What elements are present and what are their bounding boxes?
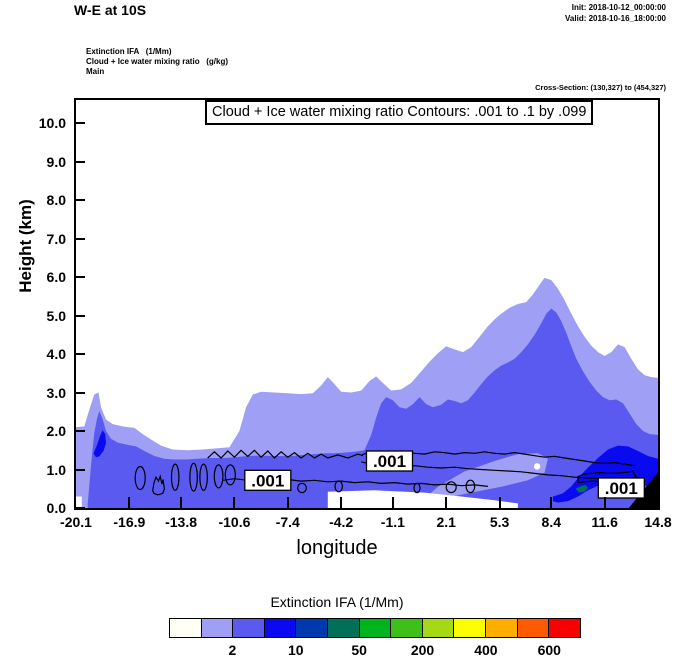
- x-tick-label: -13.8: [153, 514, 209, 530]
- colorbar-cell: [328, 619, 360, 637]
- x-tick-label: -10.6: [206, 514, 262, 530]
- colorbar-tick-label: 600: [529, 641, 569, 659]
- y-tick-mark: [74, 315, 85, 317]
- x-tick-mark: [604, 497, 606, 508]
- colorbar-tick-label: 400: [466, 641, 506, 659]
- y-tick-label: 0.0: [18, 501, 66, 515]
- x-tick-mark: [233, 497, 235, 508]
- colorbar-cell: [391, 619, 423, 637]
- y-tick-mark: [74, 161, 85, 163]
- y-tick-label: 2.0: [18, 424, 66, 438]
- x-tick-mark: [287, 497, 289, 508]
- x-tick-label: 8.4: [523, 514, 579, 530]
- x-tick-mark: [128, 497, 130, 508]
- init-timestamp: Init: 2018-10-12_00:00:00: [565, 2, 666, 13]
- colorbar-cell: [423, 619, 455, 637]
- cross-section-figure: W-E at 10S Init: 2018-10-12_00:00:00 Val…: [0, 0, 674, 667]
- y-tick-mark: [74, 430, 85, 432]
- y-tick-mark: [74, 276, 85, 278]
- y-tick-mark: [74, 122, 85, 124]
- x-tick-mark: [340, 497, 342, 508]
- x-tick-label: -1.1: [365, 514, 421, 530]
- y-axis-title: Height (km): [16, 176, 36, 316]
- x-tick-label: -4.2: [313, 514, 369, 530]
- field-hole: [534, 463, 540, 469]
- x-axis-title: longitude: [0, 537, 674, 560]
- x-tick-label: 11.6: [577, 514, 633, 530]
- y-tick-mark: [74, 507, 85, 509]
- colorbar-cell: [549, 619, 580, 637]
- x-tick-label: -7.4: [260, 514, 316, 530]
- colorbar-cell: [518, 619, 550, 637]
- colorbar-cell: [170, 619, 202, 637]
- x-tick-mark: [550, 497, 552, 508]
- y-tick-mark: [74, 392, 85, 394]
- y-tick-mark: [74, 469, 85, 471]
- plot-area: .001.001.001: [74, 98, 660, 510]
- colorbar-tick-label: 200: [403, 641, 443, 659]
- y-tick-label: 4.0: [18, 347, 66, 361]
- colorbar-cell: [360, 619, 392, 637]
- colorbar-cell: [296, 619, 328, 637]
- colorbar-title: Extinction IFA (1/Mm): [0, 594, 674, 610]
- cross-section-coords: Cross-Section: (130,327) to (454,327): [535, 83, 666, 92]
- contour-title-box: Cloud + Ice water mixing ratio Contours:…: [205, 100, 593, 125]
- contour-label-text: .001: [605, 479, 638, 498]
- y-tick-label: 1.0: [18, 463, 66, 477]
- x-tick-mark: [392, 497, 394, 508]
- colorbar-tick-labels: 21050200400600: [169, 641, 581, 661]
- colorbar-cell: [265, 619, 297, 637]
- x-tick-label: -20.1: [48, 514, 104, 530]
- y-tick-mark: [74, 238, 85, 240]
- cross-section-plot: .001.001.001: [76, 100, 658, 508]
- x-tick-mark: [180, 497, 182, 508]
- forecast-timestamps: Init: 2018-10-12_00:00:00 Valid: 2018-10…: [565, 2, 666, 24]
- y-tick-label: 10.0: [18, 116, 66, 130]
- valid-timestamp: Valid: 2018-10-16_18:00:00: [565, 13, 666, 24]
- x-tick-mark: [445, 497, 447, 508]
- x-tick-label: -16.9: [101, 514, 157, 530]
- colorbar-cell: [486, 619, 518, 637]
- colorbar-tick-label: 10: [276, 641, 316, 659]
- page-title: W-E at 10S: [74, 2, 146, 18]
- x-tick-mark: [499, 497, 501, 508]
- field-subtitle: Extinction IFA (1/Mm) Cloud + Ice water …: [86, 47, 228, 77]
- y-tick-label: 9.0: [18, 155, 66, 169]
- colorbar-cell: [233, 619, 265, 637]
- colorbar: [169, 618, 581, 638]
- y-tick-mark: [74, 353, 85, 355]
- x-tick-label: 5.3: [472, 514, 528, 530]
- contour-label-text: .001: [373, 452, 406, 471]
- y-tick-mark: [74, 199, 85, 201]
- y-tick-label: 3.0: [18, 386, 66, 400]
- colorbar-cell: [202, 619, 234, 637]
- x-tick-label: 2.1: [418, 514, 474, 530]
- x-tick-label: 14.8: [630, 514, 674, 530]
- colorbar-cell: [454, 619, 486, 637]
- colorbar-tick-label: 2: [212, 641, 252, 659]
- contour-label-text: .001: [251, 471, 284, 490]
- colorbar-tick-label: 50: [339, 641, 379, 659]
